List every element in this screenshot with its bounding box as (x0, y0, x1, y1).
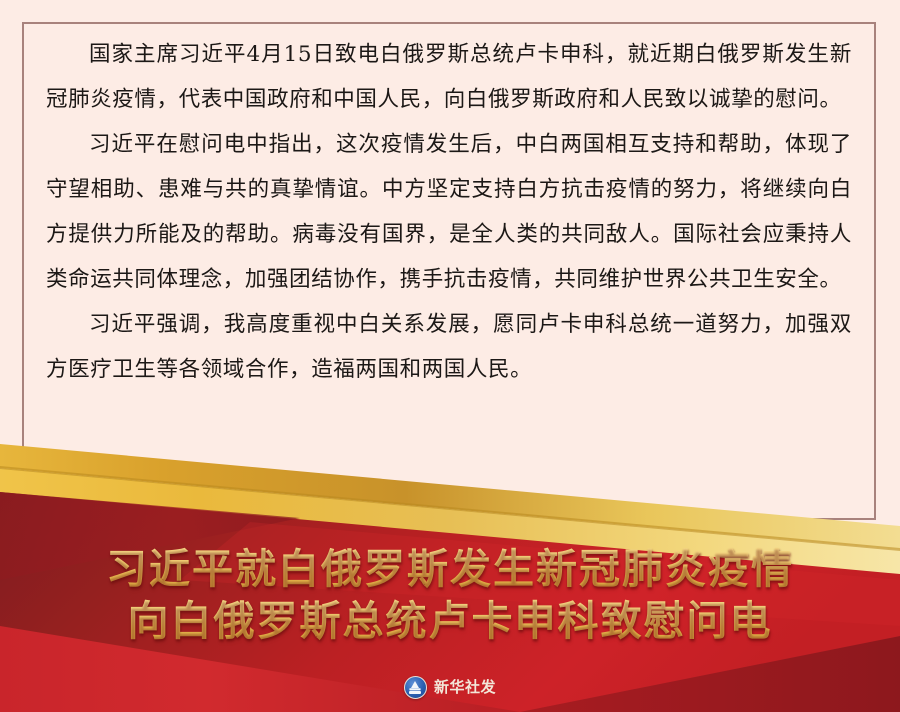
credit-line: 新华社发 (0, 676, 900, 699)
article-body: 国家主席习近平4月15日致电白俄罗斯总统卢卡申科，就近期白俄罗斯发生新冠肺炎疫情… (46, 32, 852, 392)
xinhua-logo-icon (404, 676, 427, 699)
credit-agency-text: 新华社发 (434, 680, 496, 695)
article-paragraph: 习近平在慰问电中指出，这次疫情发生后，中白两国相互支持和帮助，体现了守望相助、患… (46, 122, 852, 302)
article-paragraph: 国家主席习近平4月15日致电白俄罗斯总统卢卡申科，就近期白俄罗斯发生新冠肺炎疫情… (46, 32, 852, 122)
banner-graphic (0, 430, 900, 712)
red-banner-background (0, 430, 900, 712)
article-paragraph: 习近平强调，我高度重视中白关系发展，愿同卢卡申科总统一道努力，加强双方医疗卫生等… (46, 302, 852, 392)
poster-root: 国家主席习近平4月15日致电白俄罗斯总统卢卡申科，就近期白俄罗斯发生新冠肺炎疫情… (0, 0, 900, 712)
